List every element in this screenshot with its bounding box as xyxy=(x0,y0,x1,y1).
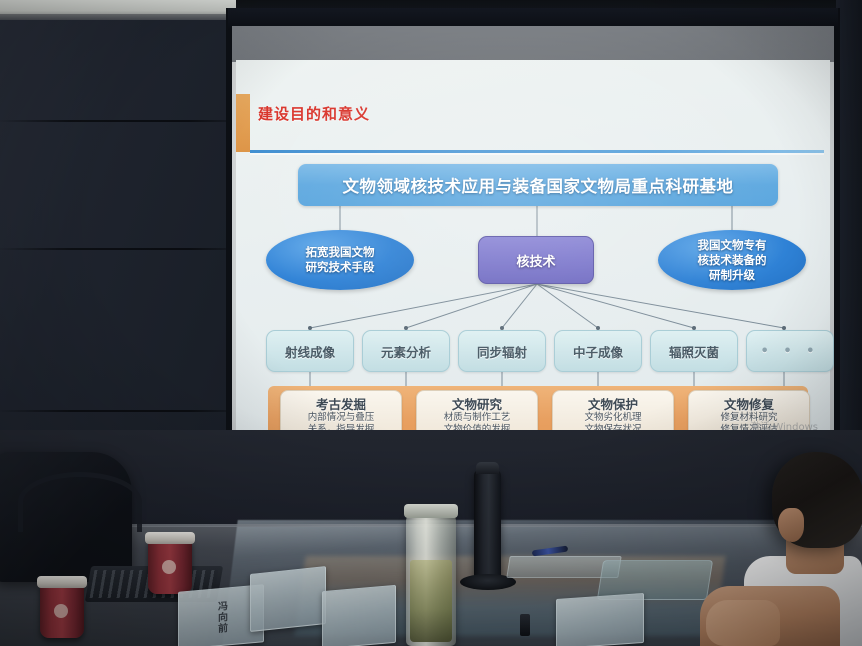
powerpoint-slide: 建设目的和意义 xyxy=(236,60,830,460)
diagram-header-label: 文物领域核技术应用与装备国家文物局重点科研基地 xyxy=(343,173,734,197)
tech-chip-1-label: 元素分析 xyxy=(381,342,431,361)
name-placard xyxy=(322,585,396,646)
tech-chip-2: 同步辐射 xyxy=(458,330,546,372)
wall-seam xyxy=(0,410,236,412)
goal-node-left-label: 拓宽我国文物研究技术手段 xyxy=(306,245,375,275)
diagram-header-box: 文物领域核技术应用与装备国家文物局重点科研基地 xyxy=(298,164,778,206)
conference-microphone xyxy=(474,470,501,578)
technology-row: 射线成像 元素分析 同步辐射 中子成像 辐照灭菌 • • • xyxy=(250,330,824,372)
tech-chip-0-label: 射线成像 xyxy=(285,342,335,361)
microphone-head xyxy=(476,462,499,474)
conference-room-scene: 建设目的和意义 xyxy=(0,0,862,646)
goal-node-left: 拓宽我国文物研究技术手段 xyxy=(266,230,414,290)
application-card-0-line1: 内部情况与叠压 xyxy=(308,412,375,424)
application-card-2-title: 文物保护 xyxy=(588,397,638,412)
chair-armrest xyxy=(18,472,142,532)
name-placard-text: 冯向前 xyxy=(214,600,229,634)
goal-node-center-label: 核技术 xyxy=(516,251,555,270)
slide-accent-bar xyxy=(236,94,250,152)
bottle-tea-contents xyxy=(410,560,452,642)
attendee-ear xyxy=(778,508,804,542)
slide-title-row: 建设目的和意义 xyxy=(258,102,818,142)
cup-lid xyxy=(145,532,195,544)
goal-node-right-label: 我国文物专有核技术装备的研制升级 xyxy=(698,238,767,283)
paper-cup xyxy=(40,582,84,638)
name-placard xyxy=(556,593,644,646)
application-card-1-title: 文物研究 xyxy=(452,397,502,412)
projection-screen-surface: 建设目的和意义 xyxy=(232,26,834,466)
cup-logo xyxy=(162,560,176,574)
application-card-3-title: 文物修复 xyxy=(724,397,774,412)
name-placard xyxy=(250,566,326,632)
slide-diagram: 文物领域核技术应用与装备国家文物局重点科研基地 拓宽我国文物研究技术手段 核技术… xyxy=(250,158,824,446)
tech-chip-2-label: 同步辐射 xyxy=(477,342,527,361)
tech-chip-ellipsis-label: • • • xyxy=(761,344,820,359)
application-card-1-line1: 材质与制作工艺 xyxy=(444,412,511,424)
slide-section-title: 建设目的和意义 xyxy=(258,102,818,126)
tech-chip-4: 辐照灭菌 xyxy=(650,330,738,372)
application-card-0-title: 考古发掘 xyxy=(316,397,366,412)
tech-chip-1: 元素分析 xyxy=(362,330,450,372)
tech-chip-3-label: 中子成像 xyxy=(573,342,623,361)
cup-lid xyxy=(37,576,87,588)
tech-chip-4-label: 辐照灭菌 xyxy=(669,342,719,361)
thermos-bottle xyxy=(406,514,456,646)
paper-cup xyxy=(148,538,192,594)
pen xyxy=(520,614,530,636)
title-divider-highlight xyxy=(250,153,824,155)
tech-chip-ellipsis: • • • xyxy=(746,330,834,372)
application-card-2-line1: 文物劣化机理 xyxy=(584,412,641,424)
wall-seam xyxy=(0,248,236,250)
projected-desktop-strip xyxy=(232,26,834,62)
bottle-cap xyxy=(404,504,458,518)
tech-chip-3: 中子成像 xyxy=(554,330,642,372)
attendee-hand xyxy=(706,600,780,646)
application-card-3-line1: 修复材料研究 xyxy=(720,412,777,424)
tech-chip-0: 射线成像 xyxy=(266,330,354,372)
goal-node-center: 核技术 xyxy=(478,236,594,284)
wall-seam xyxy=(0,120,236,122)
goal-node-right: 我国文物专有核技术装备的研制升级 xyxy=(658,230,806,290)
cup-logo xyxy=(54,604,68,618)
